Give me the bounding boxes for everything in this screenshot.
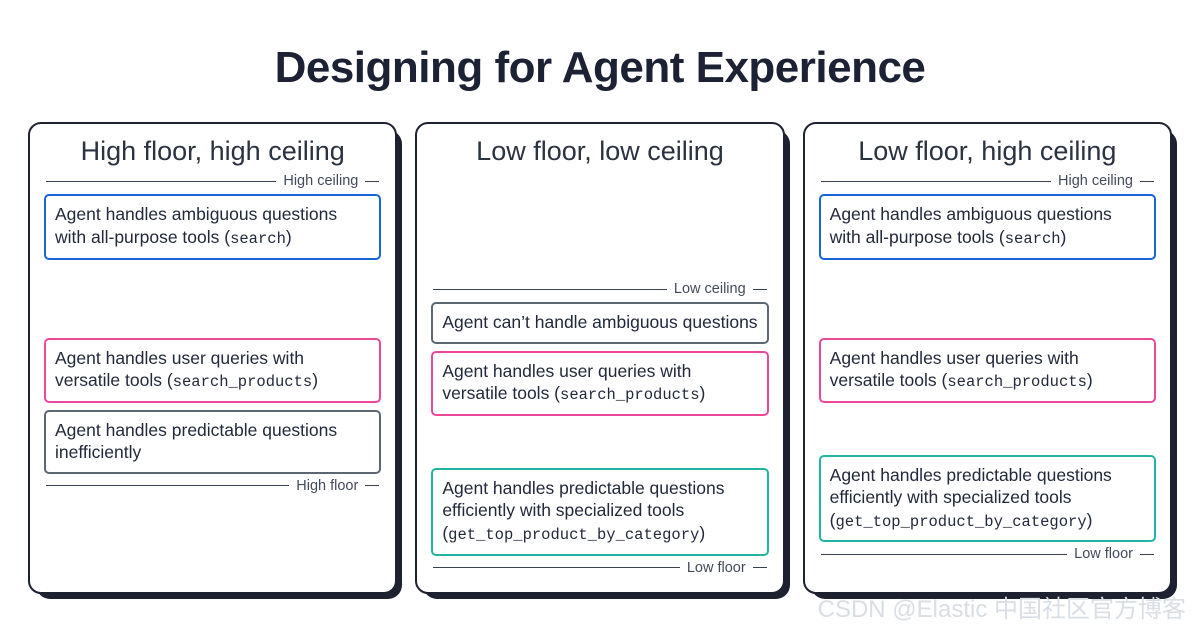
- floor-line: High floor: [46, 478, 379, 494]
- capability-box-cant-handle-ambiguous: Agent can’t handle ambiguous questions: [431, 302, 768, 343]
- ceiling-line: Low ceiling: [433, 281, 766, 297]
- ceiling-label: High ceiling: [283, 173, 358, 189]
- capability-box-user-queries-versatile: Agent handles user queries with versatil…: [431, 351, 768, 416]
- rule-segment: [1140, 181, 1154, 182]
- rule-segment: [46, 485, 289, 486]
- capability-box-ambiguous-all-purpose: Agent handles ambiguous questions with a…: [44, 194, 381, 259]
- spacer: [431, 344, 768, 351]
- ceiling-label: Low ceiling: [674, 281, 746, 297]
- box-code: search_products: [947, 373, 1087, 391]
- box-code: search: [1005, 230, 1061, 248]
- card-surface: Low floor, high ceiling High ceiling Age…: [803, 122, 1172, 594]
- box-code: get_top_product_by_category: [448, 526, 699, 544]
- rule-segment: [365, 181, 379, 182]
- card-body: Low ceiling Agent can’t handle ambiguous…: [431, 169, 768, 580]
- cards-row: High floor, high ceiling High ceiling Ag…: [0, 92, 1200, 594]
- capability-box-predictable-inefficient: Agent handles predictable questions inef…: [44, 410, 381, 474]
- spacer: [819, 260, 1156, 338]
- rule-segment: [1140, 554, 1154, 555]
- box-text: Agent can’t handle ambiguous questions: [442, 312, 757, 332]
- card-title: Low floor, low ceiling: [431, 136, 768, 167]
- floor-label: Low floor: [1074, 546, 1133, 562]
- spacer: [431, 247, 768, 277]
- card-body: High ceiling Agent handles ambiguous que…: [819, 169, 1156, 580]
- box-code: search: [230, 230, 286, 248]
- box-text: Agent handles ambiguous questions with a…: [830, 204, 1112, 246]
- card-low-floor-low-ceiling: Low floor, low ceiling Low ceiling Agent…: [415, 122, 784, 594]
- box-code: search_products: [560, 386, 700, 404]
- box-text-after: ): [1061, 227, 1067, 247]
- box-code: get_top_product_by_category: [835, 513, 1086, 531]
- rule-segment: [821, 181, 1051, 182]
- rule-segment: [433, 289, 667, 290]
- spacer: [44, 499, 381, 581]
- spacer: [819, 403, 1156, 455]
- rule-segment: [821, 554, 1067, 555]
- floor-label: Low floor: [687, 560, 746, 576]
- rule-segment: [753, 289, 767, 290]
- spacer: [431, 169, 768, 247]
- spacer: [431, 416, 768, 468]
- card-title: Low floor, high ceiling: [819, 136, 1156, 167]
- spacer: [44, 403, 381, 410]
- box-text: Agent handles ambiguous questions with a…: [55, 204, 337, 246]
- box-text: Agent handles predictable questions inef…: [55, 420, 337, 462]
- capability-box-ambiguous-all-purpose: Agent handles ambiguous questions with a…: [819, 194, 1156, 259]
- box-text-after: ): [312, 370, 318, 390]
- box-text-after: ): [699, 523, 705, 543]
- floor-label: High floor: [296, 478, 358, 494]
- capability-box-user-queries-versatile: Agent handles user queries with versatil…: [44, 338, 381, 403]
- ceiling-line: High ceiling: [821, 173, 1154, 189]
- card-surface: Low floor, low ceiling Low ceiling Agent…: [415, 122, 784, 594]
- box-text-after: ): [700, 383, 706, 403]
- floor-line: Low floor: [433, 560, 766, 576]
- capability-box-user-queries-versatile: Agent handles user queries with versatil…: [819, 338, 1156, 403]
- box-code: search_products: [173, 373, 313, 391]
- ceiling-line: High ceiling: [46, 173, 379, 189]
- box-text-after: ): [1087, 510, 1093, 530]
- card-title: High floor, high ceiling: [44, 136, 381, 167]
- rule-segment: [46, 181, 276, 182]
- box-text-after: ): [1087, 370, 1093, 390]
- box-text-after: ): [286, 227, 292, 247]
- capability-box-predictable-specialized: Agent handles predictable questions effi…: [819, 455, 1156, 543]
- rule-segment: [753, 567, 767, 568]
- rule-segment: [433, 567, 679, 568]
- spacer: [44, 260, 381, 338]
- card-low-floor-high-ceiling: Low floor, high ceiling High ceiling Age…: [803, 122, 1172, 594]
- capability-box-predictable-specialized: Agent handles predictable questions effi…: [431, 468, 768, 556]
- floor-line: Low floor: [821, 546, 1154, 562]
- card-body: High ceiling Agent handles ambiguous que…: [44, 169, 381, 580]
- rule-segment: [365, 485, 379, 486]
- card-high-floor-high-ceiling: High floor, high ceiling High ceiling Ag…: [28, 122, 397, 594]
- page-title: Designing for Agent Experience: [0, 0, 1200, 92]
- ceiling-label: High ceiling: [1058, 173, 1133, 189]
- card-surface: High floor, high ceiling High ceiling Ag…: [28, 122, 397, 594]
